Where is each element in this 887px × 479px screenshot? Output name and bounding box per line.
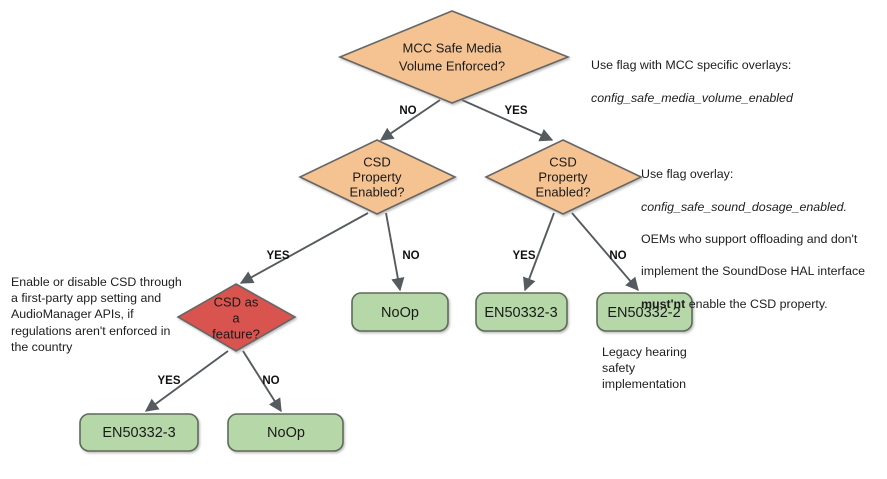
node-en50332-3-right[interactable]: EN50332-3 bbox=[476, 293, 567, 331]
node-csd-feature-line-1: CSD as bbox=[214, 294, 259, 309]
node-csd-feature-line-3: feature? bbox=[212, 326, 260, 341]
node-noop-middle-label: NoOp bbox=[381, 305, 419, 321]
node-mcc-line-2: Volume Enforced? bbox=[399, 58, 505, 73]
edge-label-csd-feature-yes: YES bbox=[157, 375, 180, 387]
node-csd-right-line-2: Property bbox=[538, 169, 588, 184]
annotation-mid-right-line3: OEMs who support offloading and don't bbox=[641, 231, 887, 247]
node-en50332-3-right-label: EN50332-3 bbox=[484, 305, 557, 321]
edge-label-csd-right-no: NO bbox=[609, 250, 626, 262]
node-csd-left-line-1: CSD bbox=[363, 154, 390, 169]
edge-label-csd-right-yes: YES bbox=[512, 250, 535, 262]
node-csd-as-a-feature[interactable]: CSD as a feature? bbox=[178, 284, 295, 351]
node-noop-bottom-label: NoOp bbox=[267, 425, 305, 441]
edge-label-csd-left-yes: YES bbox=[266, 250, 289, 262]
annotation-top-right: Use flag with MCC specific overlays: con… bbox=[591, 41, 881, 122]
node-noop-bottom[interactable]: NoOp bbox=[228, 414, 343, 451]
annotation-mid-right-line4: implement the SoundDose HAL interface bbox=[641, 263, 887, 279]
edge-csd-right-to-en50332-2 bbox=[572, 213, 638, 290]
annotation-mid-right: Use flag overlay: config_safe_sound_dosa… bbox=[641, 150, 887, 328]
node-csd-property-enabled-right[interactable]: CSD Property Enabled? bbox=[486, 140, 641, 214]
node-csd-left-line-3: Enabled? bbox=[350, 184, 405, 199]
edge-label-csd-feature-no: NO bbox=[262, 375, 279, 387]
node-csd-feature-line-2: a bbox=[232, 310, 240, 325]
node-mcc-line-1: MCC Safe Media bbox=[403, 40, 503, 55]
node-mcc-safe-media-volume[interactable]: MCC Safe Media Volume Enforced? bbox=[340, 11, 568, 103]
edge-label-mcc-yes: YES bbox=[504, 105, 527, 117]
annotation-left: Enable or disable CSD through a first-pa… bbox=[11, 274, 191, 355]
edge-csd-left-to-noop-mid bbox=[386, 213, 400, 290]
flowchart-canvas: NO YES YES NO YES NO YES NO MCC Safe Med… bbox=[0, 0, 887, 479]
annotation-bottom-right: Legacy hearing safety implementation bbox=[602, 344, 752, 393]
edge-label-mcc-no: NO bbox=[399, 105, 416, 117]
node-en50332-3-bottom[interactable]: EN50332-3 bbox=[80, 414, 198, 451]
node-csd-left-line-2: Property bbox=[352, 169, 402, 184]
node-csd-right-line-1: CSD bbox=[549, 154, 576, 169]
node-csd-property-enabled-left[interactable]: CSD Property Enabled? bbox=[300, 140, 455, 214]
edge-csd-left-to-csd-feature bbox=[241, 213, 368, 283]
annotation-mid-right-line5: must'nt enable the CSD property. bbox=[641, 296, 887, 312]
annotation-mid-right-line5-rest: enable the CSD property. bbox=[685, 297, 827, 311]
annotation-top-right-line2: config_safe_media_volume_enabled bbox=[591, 90, 881, 106]
annotation-mid-right-line2: config_safe_sound_dosage_enabled. bbox=[641, 199, 887, 215]
node-noop-middle[interactable]: NoOp bbox=[352, 293, 448, 331]
node-csd-right-line-3: Enabled? bbox=[536, 184, 591, 199]
annotation-mid-right-line1: Use flag overlay: bbox=[641, 166, 887, 182]
node-en50332-3-bottom-label: EN50332-3 bbox=[102, 425, 175, 441]
decision-diamond-shape bbox=[340, 11, 568, 103]
annotation-top-right-line1: Use flag with MCC specific overlays: bbox=[591, 57, 881, 73]
edge-label-csd-left-no: NO bbox=[402, 250, 419, 262]
annotation-mid-right-line5-bold: must'nt bbox=[641, 297, 685, 311]
